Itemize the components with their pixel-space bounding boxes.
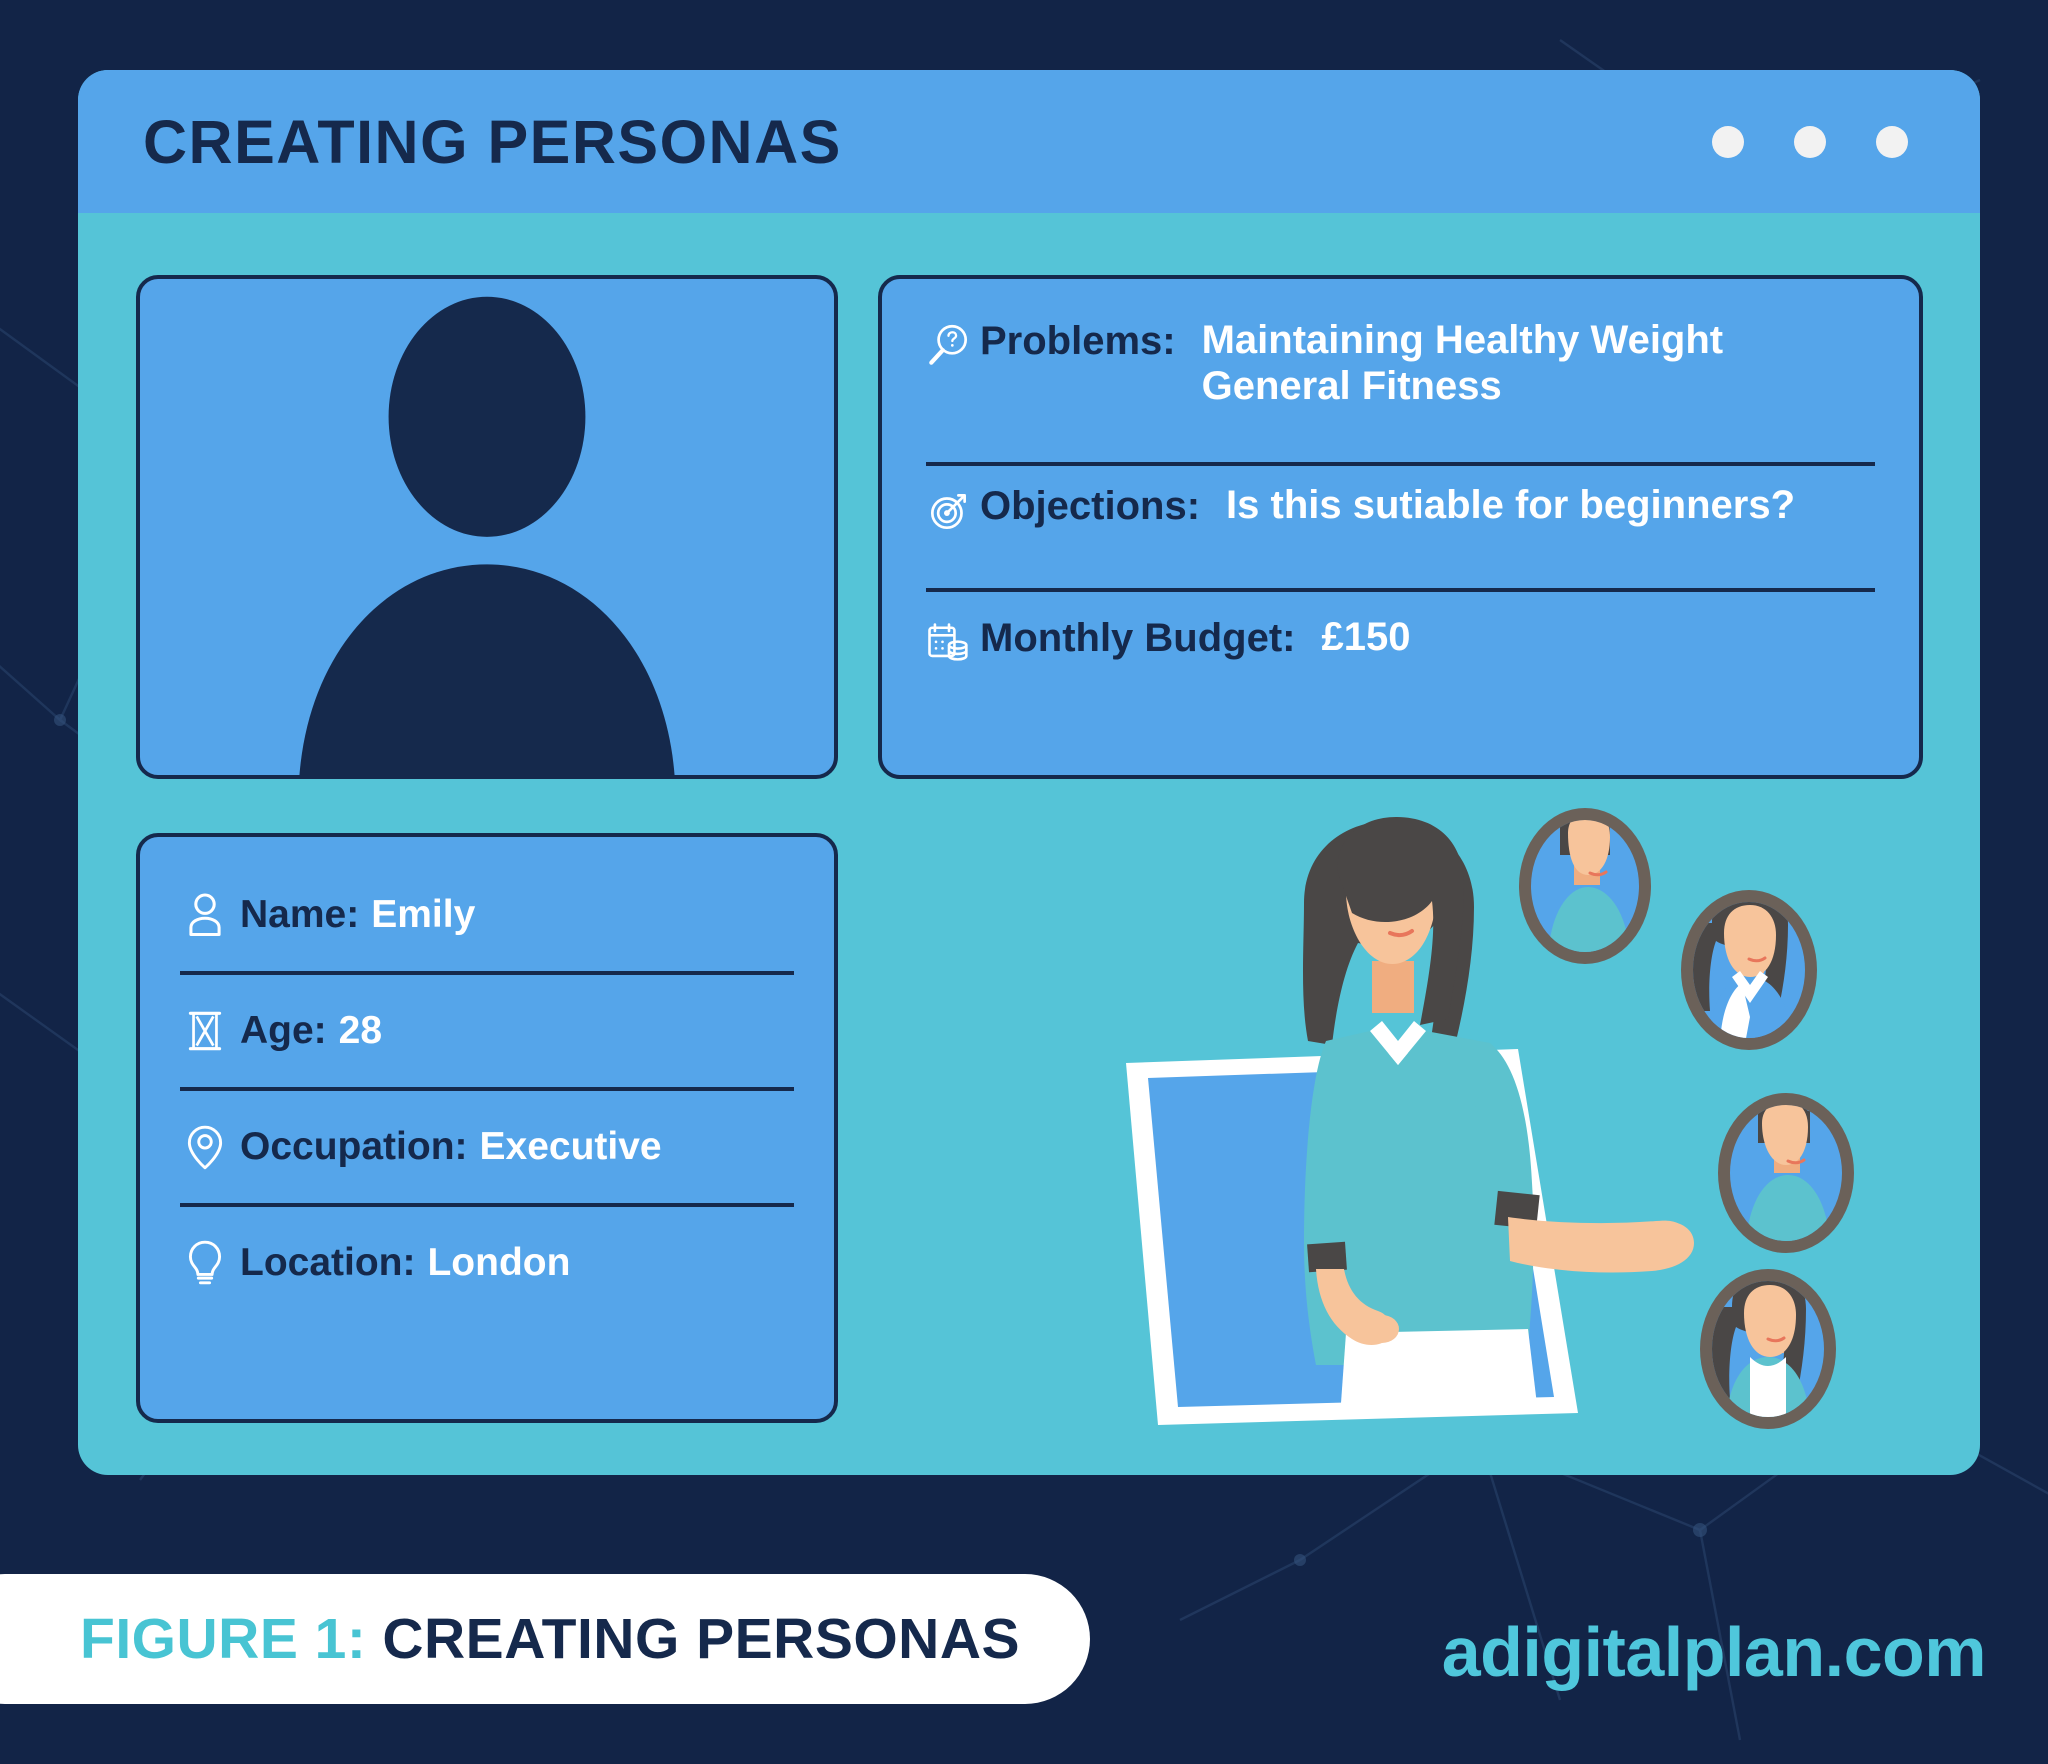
- details-row-name: Name: Emily: [170, 859, 804, 971]
- details-value-name: Emily: [371, 893, 475, 937]
- window-control-dot-3[interactable]: [1876, 126, 1908, 158]
- map-pin-icon: [170, 1122, 240, 1172]
- window-control-dot-1[interactable]: [1712, 126, 1744, 158]
- window-body: Problems: Maintaining Healthy Weight Gen…: [78, 213, 1980, 1475]
- details-row-occupation: Occupation: Executive: [170, 1091, 804, 1203]
- persona-value-problems-line1: Maintaining Healthy Weight: [1202, 318, 1724, 362]
- details-label-occupation: Occupation:: [240, 1125, 468, 1169]
- audience-avatar-2: [1681, 881, 1817, 1050]
- persona-label-problems: Problems:: [980, 317, 1176, 364]
- details-row-location: Location: London: [170, 1207, 804, 1319]
- figure-caption-text: CREATING PERSONAS: [382, 1606, 1020, 1672]
- window-control-dot-2[interactable]: [1794, 126, 1826, 158]
- persona-value-objections: Is this sutiable for beginners?: [1226, 482, 1795, 528]
- persona-label-budget: Monthly Budget:: [980, 614, 1296, 661]
- audience-avatar-1: [1519, 808, 1651, 964]
- window-controls[interactable]: [1712, 126, 1908, 158]
- figure-number: FIGURE 1:: [80, 1606, 366, 1672]
- audience-avatar-4: [1700, 1265, 1836, 1429]
- persona-value-problems: Maintaining Healthy Weight General Fitne…: [1202, 317, 1724, 410]
- details-label-location: Location:: [240, 1241, 415, 1285]
- audience-avatar-3: [1718, 1093, 1854, 1253]
- avatar-card: [136, 275, 838, 779]
- persona-row-budget: Monthly Budget: £150: [918, 592, 1883, 670]
- persona-details-card: Name: Emily Age: 28: [136, 833, 838, 1423]
- user-avatar-placeholder-icon: [140, 279, 834, 775]
- lightbulb-icon: [170, 1238, 240, 1288]
- figure-caption-pill: FIGURE 1: CREATING PERSONAS: [0, 1574, 1090, 1704]
- site-url[interactable]: adigitalplan.com: [1442, 1612, 1986, 1692]
- details-row-age: Age: 28: [170, 975, 804, 1087]
- details-label-name: Name:: [240, 893, 359, 937]
- persona-label-objections: Objections:: [980, 482, 1200, 529]
- page-title: CREATING PERSONAS: [143, 107, 842, 177]
- calendar-coins-icon: [918, 614, 980, 670]
- hourglass-icon: [170, 1006, 240, 1056]
- persona-row-objections: Objections: Is this sutiable for beginne…: [918, 466, 1883, 536]
- persona-value-budget: £150: [1322, 614, 1411, 660]
- window-titlebar: CREATING PERSONAS: [78, 70, 1980, 213]
- details-label-age: Age:: [240, 1009, 327, 1053]
- target-dart-icon: [918, 482, 980, 536]
- persona-row-problems: Problems: Maintaining Healthy Weight Gen…: [918, 279, 1883, 410]
- magnifier-question-icon: [918, 317, 980, 371]
- person-outline-icon: [170, 889, 240, 941]
- details-value-location: London: [427, 1241, 570, 1285]
- details-value-occupation: Executive: [480, 1125, 662, 1169]
- browser-window: CREATING PERSONAS: [78, 70, 1980, 1475]
- persona-value-problems-line2: General Fitness: [1202, 364, 1502, 408]
- presenter-with-audience-avatars-illustration: [1108, 773, 1908, 1473]
- details-value-age: 28: [339, 1009, 382, 1053]
- persona-attributes-card: Problems: Maintaining Healthy Weight Gen…: [878, 275, 1923, 779]
